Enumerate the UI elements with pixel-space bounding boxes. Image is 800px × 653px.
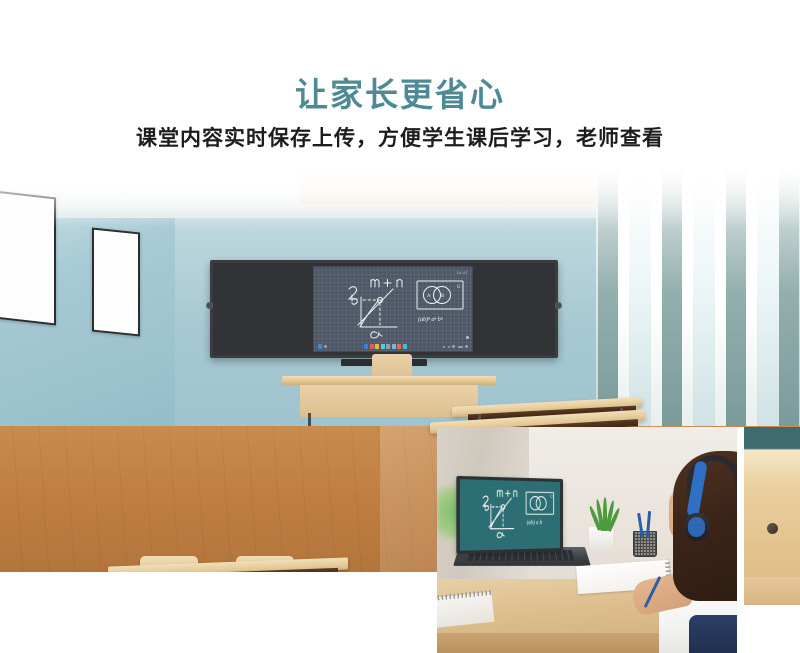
svg-text:A: A <box>427 294 431 299</box>
laptop-screen[interactable]: U (ab) a b <box>456 476 563 554</box>
window-reveal-3 <box>726 158 746 426</box>
window-reveal-4 <box>779 158 799 426</box>
pen-icon[interactable] <box>364 344 368 349</box>
wall-whiteboard-2 <box>92 227 140 336</box>
display-left-control-icon[interactable] <box>206 302 213 309</box>
close-icon[interactable] <box>465 345 468 348</box>
line-icon[interactable] <box>392 344 396 349</box>
door-knob-icon <box>767 523 778 534</box>
headphone-earcup-inner <box>688 517 705 537</box>
page-indicator-icon[interactable] <box>324 345 327 348</box>
laptop-handwriting: U (ab) a b <box>460 479 560 551</box>
student-home-study-photo: U (ab) a b <box>437 427 800 653</box>
whiteboard-canvas[interactable]: 14:47 <box>313 266 473 352</box>
highlighter-icon[interactable] <box>370 344 374 349</box>
door-floor <box>744 577 800 605</box>
more-icon[interactable] <box>458 346 463 348</box>
window-mullion-1 <box>618 158 629 433</box>
headphone-earcup <box>685 513 709 541</box>
toolbar-right-group[interactable] <box>443 345 468 348</box>
window-mullion-3 <box>682 158 693 433</box>
inset-divider <box>737 427 744 653</box>
teacher-desk-top <box>282 376 496 385</box>
eraser-icon[interactable] <box>375 344 379 349</box>
svg-text:U: U <box>550 494 553 500</box>
window-mullion-2 <box>651 158 662 433</box>
shape-icon[interactable] <box>386 344 390 349</box>
undo-icon[interactable] <box>443 346 445 348</box>
window-reveal-1 <box>598 158 618 426</box>
laptop-screen-content: U (ab) a b <box>460 479 560 551</box>
toolbar-left-group[interactable] <box>318 344 327 349</box>
window-glass-1 <box>629 158 651 428</box>
svg-text:(ab) a b: (ab) a b <box>527 519 542 527</box>
status-led-icon <box>466 336 469 339</box>
page-subtitle: 课堂内容实时保存上传，方便学生课后学习，老师查看 <box>0 122 800 152</box>
menu-icon[interactable] <box>452 345 455 348</box>
inset-desk-edge <box>437 633 677 653</box>
page-title: 让家长更省心 <box>0 68 800 116</box>
window-mullion-5 <box>746 158 757 433</box>
text-icon[interactable] <box>381 344 385 349</box>
svg-text:B: B <box>441 294 445 299</box>
window-reveal-2 <box>662 158 682 426</box>
window-glass-3 <box>757 158 779 428</box>
image-icon[interactable] <box>397 344 401 349</box>
promo-page: 让家长更省心 课堂内容实时保存上传，方便学生课后学习，老师查看 <box>0 0 800 653</box>
redo-icon[interactable] <box>448 346 450 348</box>
wall-whiteboard-1 <box>0 190 56 325</box>
select-icon[interactable] <box>403 344 407 349</box>
toolbar-center-group[interactable] <box>364 344 407 349</box>
svg-text:(ab)ⁿ aⁿ bⁿ: (ab)ⁿ aⁿ bⁿ <box>418 316 443 323</box>
display-right-control-icon[interactable] <box>555 302 562 309</box>
interactive-whiteboard[interactable]: 14:47 <box>210 260 558 358</box>
pen-icon[interactable] <box>318 344 322 349</box>
window-glass-2 <box>693 158 715 428</box>
page-header: 让家长更省心 课堂内容实时保存上传，方便学生课后学习，老师查看 <box>0 0 800 165</box>
inset-right-mask <box>744 605 800 653</box>
whiteboard-toolbar[interactable] <box>314 341 472 350</box>
window-mullion-4 <box>715 158 726 433</box>
svg-text:U: U <box>457 285 461 290</box>
